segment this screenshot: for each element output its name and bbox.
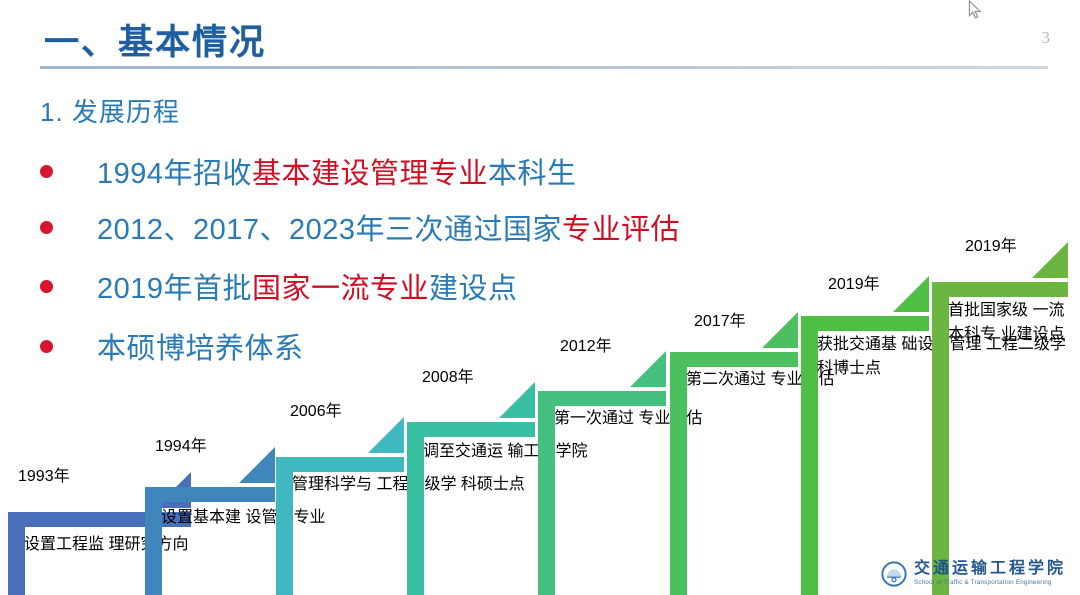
step-vertical-bar bbox=[276, 457, 293, 595]
step-horizontal-bar bbox=[407, 422, 535, 437]
bullet-item: 2012、2017、2023年三次通过国家专业评估 bbox=[40, 206, 680, 248]
bullet-text-run: 本硕博培养体系 bbox=[97, 333, 304, 365]
bullet-dot-icon bbox=[40, 221, 53, 234]
step-description: 首批国家级 一流本科专 业建设点 bbox=[948, 296, 1080, 344]
bullet-text: 本硕博培养体系 bbox=[97, 325, 304, 367]
step-arrow-icon bbox=[1032, 242, 1068, 278]
logo-name-cn: 交通运输工程学院 bbox=[914, 561, 1066, 577]
bullet-dot-icon bbox=[40, 340, 53, 353]
bullet-text-run: 国家一流专业 bbox=[252, 273, 429, 305]
bullet-dot-icon bbox=[40, 165, 53, 178]
step-year-label: 1994年 bbox=[155, 432, 207, 456]
step-arrow-icon bbox=[762, 312, 798, 348]
step-vertical-bar bbox=[801, 316, 818, 595]
bullet-text: 2012、2017、2023年三次通过国家专业评估 bbox=[97, 206, 680, 248]
step-year-label: 2008年 bbox=[422, 363, 474, 387]
step-arrow-icon bbox=[368, 417, 404, 453]
step-arrow-icon bbox=[239, 447, 275, 483]
step-arrow-icon bbox=[630, 351, 666, 387]
title-divider bbox=[40, 66, 1048, 69]
logo-emblem-icon bbox=[881, 561, 907, 587]
step-horizontal-bar bbox=[145, 487, 275, 502]
step-year-label: 2017年 bbox=[694, 307, 746, 331]
step-vertical-bar bbox=[145, 487, 162, 595]
bullet-item: 2019年首批国家一流专业建设点 bbox=[40, 265, 518, 307]
section-subheading: 1. 发展历程 bbox=[40, 92, 180, 129]
step-vertical-bar bbox=[670, 352, 687, 595]
bullet-text-run: 本科生 bbox=[488, 158, 577, 190]
bullet-text-run: 1994年招收 bbox=[97, 158, 252, 190]
step-year-label: 2019年 bbox=[965, 232, 1017, 256]
step-horizontal-bar bbox=[932, 282, 1068, 297]
step-year-label: 2006年 bbox=[290, 397, 342, 421]
bullet-dot-icon bbox=[40, 280, 53, 293]
mouse-cursor-icon bbox=[968, 0, 982, 20]
step-vertical-bar bbox=[538, 391, 555, 595]
step-vertical-bar bbox=[932, 282, 949, 595]
step-year-label: 2012年 bbox=[560, 332, 612, 356]
page-title: 一、基本情况 bbox=[44, 14, 266, 65]
bullet-text-run: 专业评估 bbox=[562, 214, 680, 246]
step-year-label: 2019年 bbox=[828, 270, 880, 294]
step-arrow-icon bbox=[893, 276, 929, 312]
bullet-item: 1994年招收基本建设管理专业本科生 bbox=[40, 150, 577, 192]
bullet-text-run: 2019年首批 bbox=[97, 273, 252, 305]
bullet-item: 本硕博培养体系 bbox=[40, 325, 304, 367]
bullet-text-run: 基本建设管理专业 bbox=[252, 158, 488, 190]
bullet-text-run: 建设点 bbox=[429, 273, 518, 305]
institution-logo: 交通运输工程学院 School of Traffic & Transportat… bbox=[881, 561, 1066, 587]
step-horizontal-bar bbox=[801, 316, 929, 331]
step-vertical-bar bbox=[407, 422, 424, 595]
logo-name-en: School of Traffic & Transportation Engin… bbox=[914, 580, 1066, 586]
page-number: 3 bbox=[1042, 28, 1051, 48]
slide-canvas: 3 一、基本情况 1. 发展历程 1994年招收基本建设管理专业本科生 2012… bbox=[0, 0, 1080, 595]
bullet-text: 1994年招收基本建设管理专业本科生 bbox=[97, 150, 577, 192]
step-year-label: 1993年 bbox=[18, 462, 70, 486]
bullet-text: 2019年首批国家一流专业建设点 bbox=[97, 265, 518, 307]
step-arrow-icon bbox=[499, 382, 535, 418]
bullet-text-run: 2012、2017、2023年三次通过国家 bbox=[97, 214, 562, 246]
